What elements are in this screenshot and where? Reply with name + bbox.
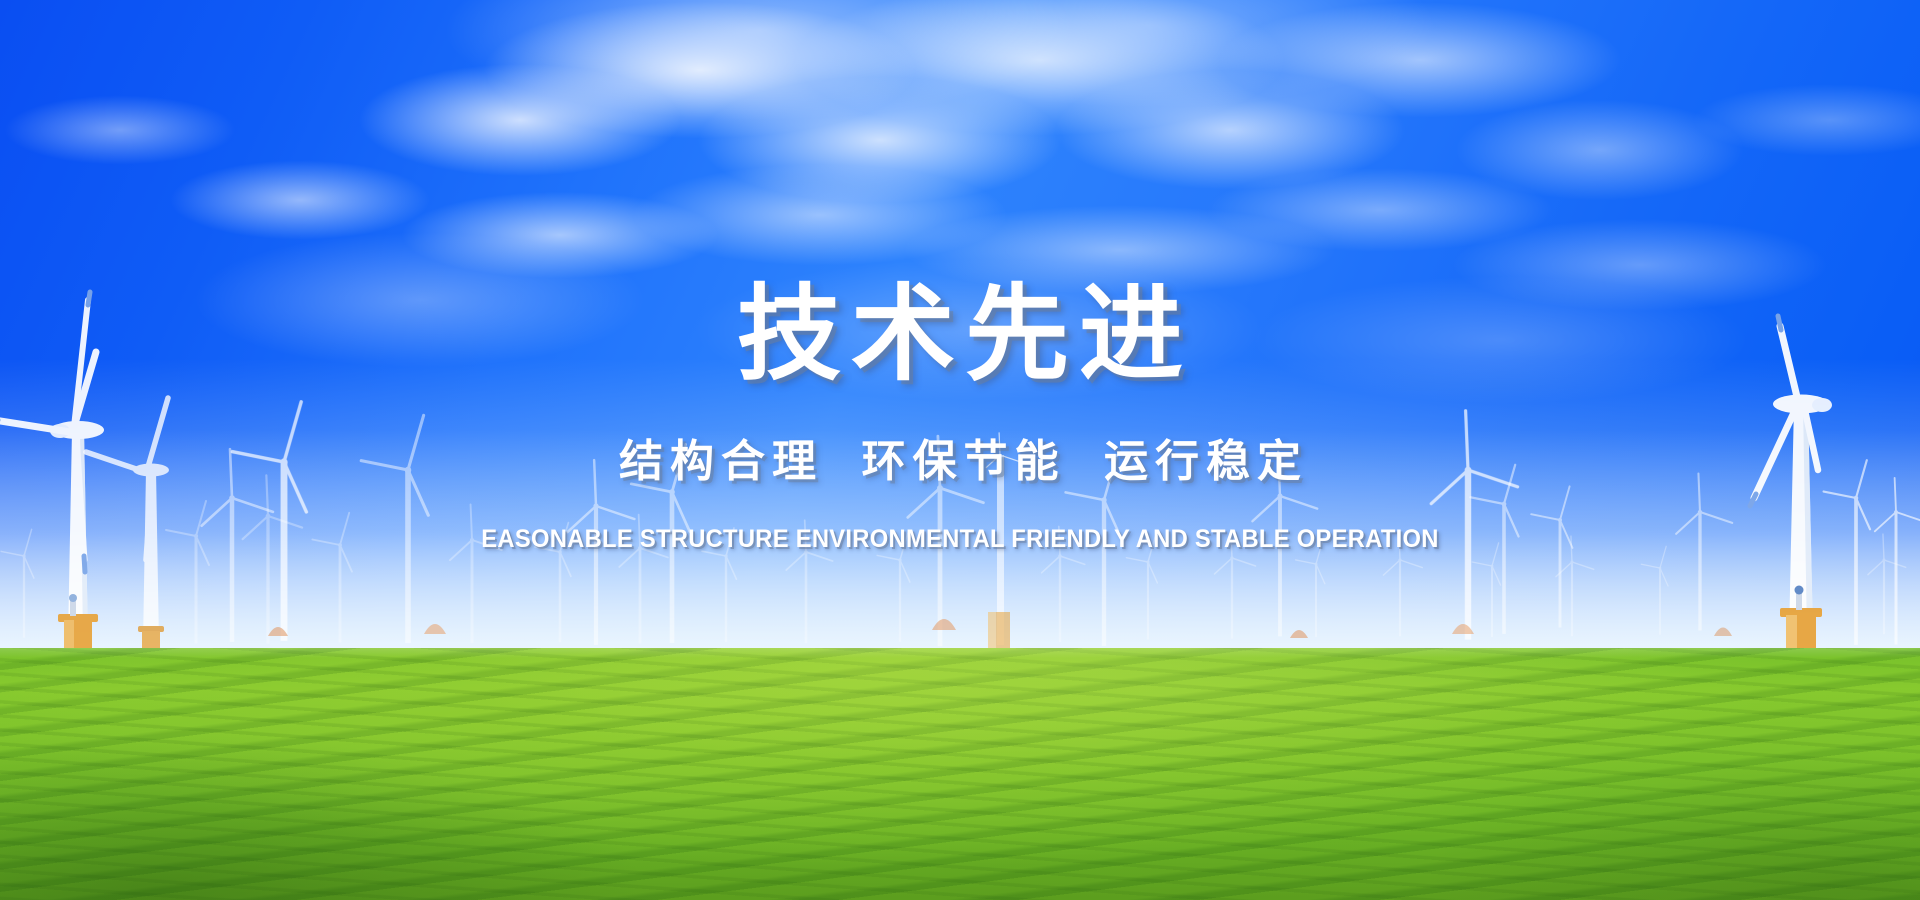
banner-tagline: EASONABLE STRUCTURE ENVIRONMENTAL FRIEND… bbox=[48, 527, 1872, 552]
hero-banner: 技术先进 结构合理 环保节能 运行稳定 EASONABLE STRUCTURE … bbox=[0, 0, 1920, 900]
banner-headline: 技术先进 bbox=[0, 283, 1920, 387]
grass-shading bbox=[0, 648, 1920, 900]
green-grass-field bbox=[0, 648, 1920, 900]
banner-subheadline: 结构合理 环保节能 运行稳定 bbox=[0, 440, 1920, 484]
